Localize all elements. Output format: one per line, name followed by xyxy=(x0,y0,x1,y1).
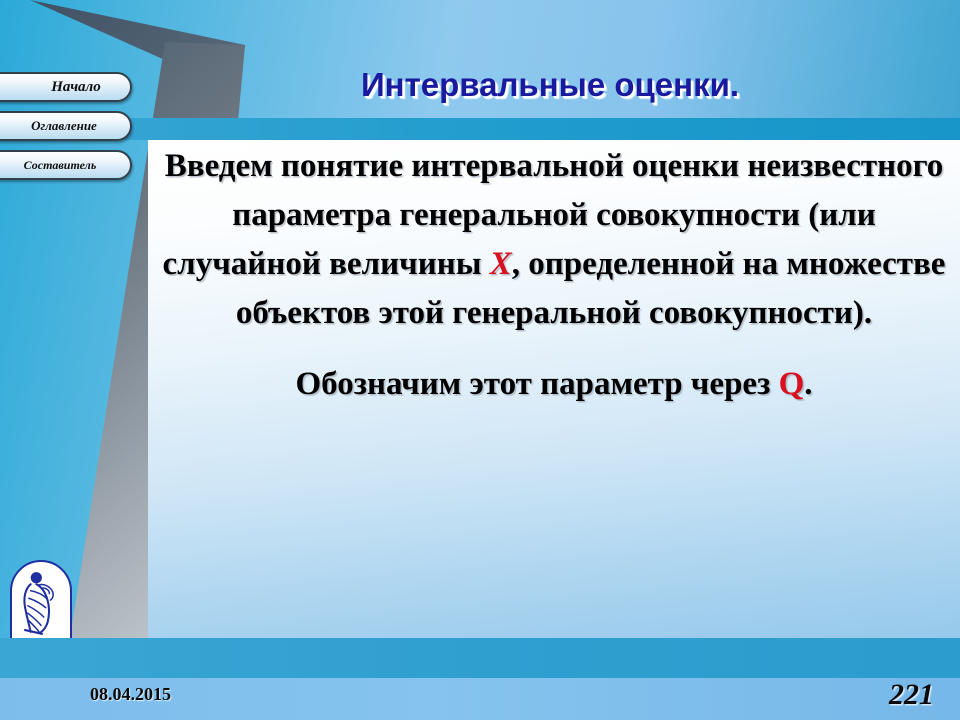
nav-button-author[interactable]: Составитель xyxy=(0,150,132,180)
slide-body: Введем понятие интервальной оценки неизв… xyxy=(150,142,958,409)
slide-number: 221 xyxy=(889,678,934,712)
vgues-emblem-icon xyxy=(10,560,72,644)
nav-button-author-label: Составитель xyxy=(22,158,97,173)
navigation-buttons: Начало Оглавление Составитель xyxy=(0,72,132,189)
paragraph-2-text-before: Обозначим этот параметр через xyxy=(296,366,779,402)
footer-date: 08.04.2015 xyxy=(90,684,171,705)
title-accent-band xyxy=(0,118,960,140)
nav-button-home[interactable]: Начало xyxy=(0,72,132,102)
page-title: Интервальные оценки. xyxy=(150,66,950,104)
nav-button-contents[interactable]: Оглавление xyxy=(0,111,132,141)
presentation-slide: Интервальные оценки. Введем понятие инте… xyxy=(0,0,960,720)
body-paragraph-2: Обозначим этот параметр через Q. xyxy=(150,360,958,409)
classical-figure-icon xyxy=(12,562,70,642)
parameter-symbol-q: Q xyxy=(779,366,805,402)
paragraph-2-text-after: . xyxy=(804,366,812,402)
random-variable-x: X xyxy=(490,246,512,282)
body-paragraph-1: Введем понятие интервальной оценки неизв… xyxy=(150,142,958,338)
footer-accent-band xyxy=(0,638,960,678)
nav-button-contents-label: Оглавление xyxy=(21,118,97,134)
nav-button-home-label: Начало xyxy=(17,79,101,96)
